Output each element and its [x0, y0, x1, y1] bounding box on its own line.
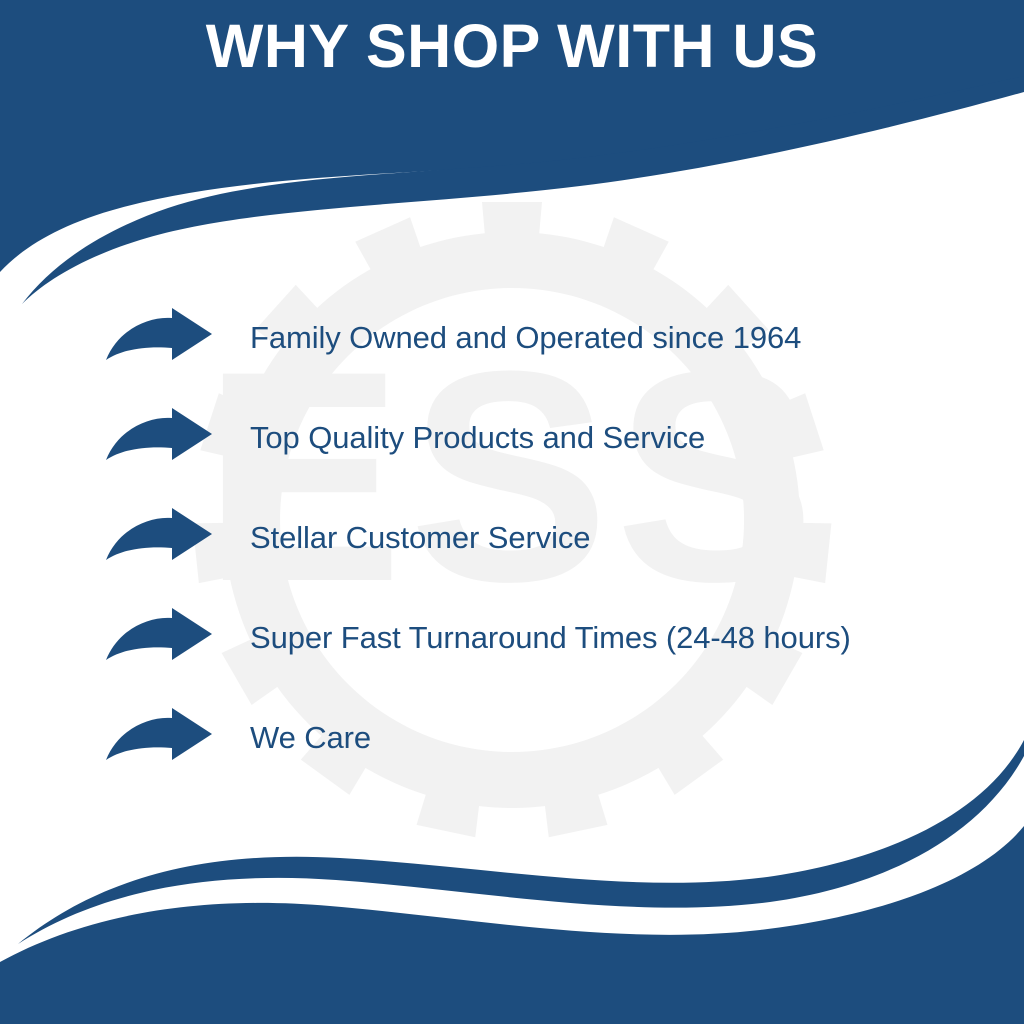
curved-arrow-right-icon [104, 608, 214, 668]
list-item: Stellar Customer Service [0, 488, 1024, 588]
list-item: Family Owned and Operated since 1964 [0, 288, 1024, 388]
why-shop-with-us-poster: ESS WHY SHOP WITH US Family Owned and Op… [0, 0, 1024, 1024]
curved-arrow-right-icon [104, 408, 214, 468]
page-title: WHY SHOP WITH US [0, 16, 1024, 77]
curved-arrow-right-icon [104, 508, 214, 568]
benefits-list: Family Owned and Operated since 1964 Top… [0, 288, 1024, 788]
benefit-label: Top Quality Products and Service [250, 421, 705, 455]
curved-arrow-right-icon [104, 708, 214, 768]
list-item: We Care [0, 688, 1024, 788]
benefit-label: Stellar Customer Service [250, 521, 590, 555]
list-item: Super Fast Turnaround Times (24-48 hours… [0, 588, 1024, 688]
benefit-label: Family Owned and Operated since 1964 [250, 321, 801, 355]
list-item: Top Quality Products and Service [0, 388, 1024, 488]
benefit-label: Super Fast Turnaround Times (24-48 hours… [250, 621, 851, 655]
curved-arrow-right-icon [104, 308, 214, 368]
benefit-label: We Care [250, 721, 371, 755]
